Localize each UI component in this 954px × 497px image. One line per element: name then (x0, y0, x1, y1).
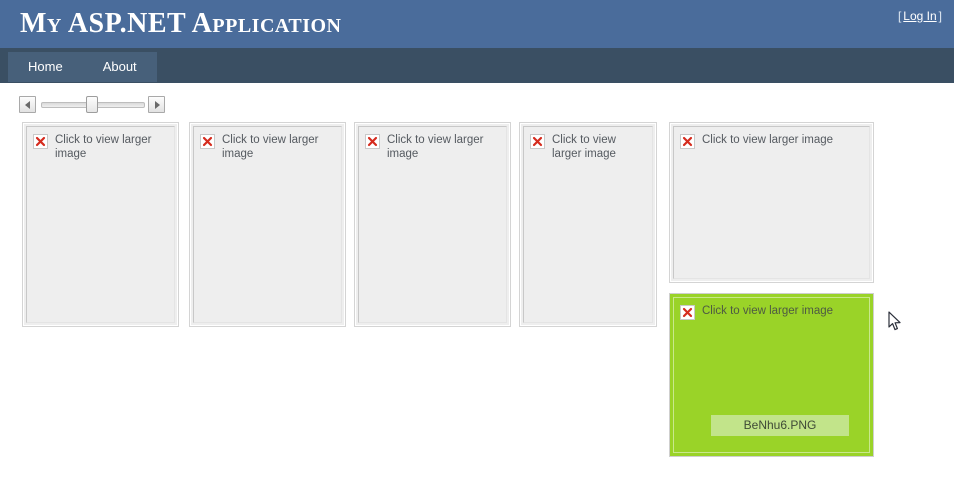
tile-alt-text: Click to view larger image (387, 133, 502, 161)
triangle-left-icon (25, 101, 30, 109)
site-header: My ASP.NET Application [Log In] (0, 0, 954, 48)
scroll-right-button[interactable] (148, 96, 165, 113)
thumbnail-tile[interactable]: Click to view larger image (354, 122, 511, 327)
scrollbar-thumb[interactable] (86, 96, 98, 113)
selected-image-filename: BeNhu6.PNG (711, 415, 849, 436)
broken-image-icon (200, 134, 215, 149)
tile-alt-text: Click to view larger image (702, 133, 833, 147)
thumbnail-tile[interactable]: Click to view larger image (669, 122, 874, 283)
nav-list-item: Home (8, 52, 83, 82)
main-navigation-bar: Home About (0, 48, 954, 83)
gallery-scrollbar[interactable] (19, 96, 167, 115)
log-in-link[interactable]: Log In (901, 9, 938, 23)
broken-image-placeholder: Click to view larger image (200, 133, 337, 161)
broken-image-placeholder: Click to view larger image (680, 133, 865, 149)
broken-image-icon (365, 134, 380, 149)
tile-alt-text: Click to view larger image (552, 133, 648, 161)
broken-image-icon (680, 134, 695, 149)
scroll-left-button[interactable] (19, 96, 36, 113)
broken-image-icon (680, 305, 695, 320)
broken-image-placeholder: Click to view larger image (530, 133, 648, 161)
thumbnail-tile[interactable]: Click to view larger image (22, 122, 179, 327)
arrow-cursor-icon (888, 311, 902, 332)
broken-image-placeholder: Click to view larger image (365, 133, 502, 161)
broken-image-placeholder: Click to view larger image (33, 133, 170, 161)
triangle-right-icon (155, 101, 160, 109)
broken-image-icon (530, 134, 545, 149)
nav-item-about[interactable]: About (83, 52, 157, 82)
thumbnail-tile[interactable]: Click to view larger image (519, 122, 657, 327)
broken-image-placeholder: Click to view larger image (680, 304, 865, 320)
nav-list-item: About (83, 52, 157, 82)
page-title: My ASP.NET Application (20, 8, 341, 40)
thumbnail-tile-selected[interactable]: Click to view larger image BeNhu6.PNG (669, 293, 874, 457)
login-area: [Log In] (898, 9, 942, 23)
tile-alt-text: Click to view larger image (702, 304, 833, 318)
tile-alt-text: Click to view larger image (222, 133, 337, 161)
broken-image-icon (33, 134, 48, 149)
nav-item-home[interactable]: Home (8, 52, 83, 82)
nav-list: Home About (8, 52, 157, 82)
thumbnail-tile[interactable]: Click to view larger image (189, 122, 346, 327)
login-close-bracket: ] (939, 9, 942, 23)
tile-alt-text: Click to view larger image (55, 133, 170, 161)
